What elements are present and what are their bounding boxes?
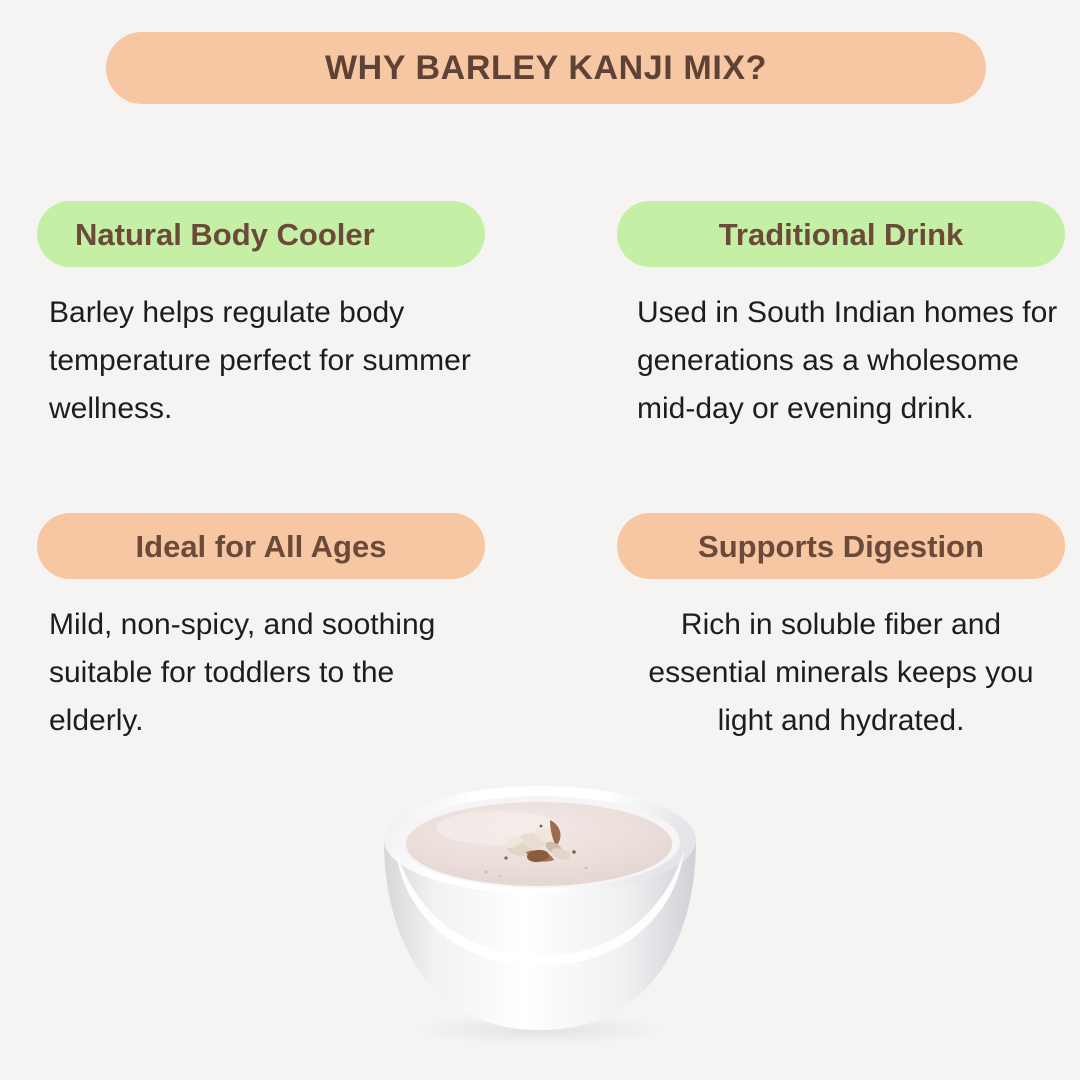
benefit-heading-label: Traditional Drink [719, 219, 964, 250]
benefit-card-supports-digestion: Supports Digestion Rich in soluble fiber… [617, 513, 1065, 745]
page-title: WHY BARLEY KANJI MIX? [325, 51, 767, 85]
benefit-card-traditional-drink: Traditional Drink Used in South Indian h… [617, 201, 1065, 433]
benefit-heading-label: Natural Body Cooler [75, 219, 375, 250]
benefit-card-natural-body-cooler: Natural Body Cooler Barley helps regulat… [37, 201, 485, 433]
benefit-card-ideal-for-all-ages: Ideal for All Ages Mild, non-spicy, and … [37, 513, 485, 745]
benefit-heading-pill-ideal-for-all-ages: Ideal for All Ages [37, 513, 485, 579]
benefit-heading-label: Supports Digestion [698, 531, 984, 562]
benefit-body-traditional-drink: Used in South Indian homes for generatio… [617, 289, 1065, 433]
benefit-heading-pill-traditional-drink: Traditional Drink [617, 201, 1065, 267]
benefit-body-ideal-for-all-ages: Mild, non-spicy, and soothing suitable f… [37, 601, 485, 745]
benefit-heading-label: Ideal for All Ages [136, 531, 387, 562]
infographic-canvas: WHY BARLEY KANJI MIX? Natural Body Coole… [0, 0, 1080, 1080]
benefit-body-supports-digestion: Rich in soluble fiber and essential mine… [617, 601, 1065, 745]
benefit-heading-pill-natural-body-cooler: Natural Body Cooler [37, 201, 485, 267]
bowl-illustration [378, 780, 702, 1048]
benefit-heading-pill-supports-digestion: Supports Digestion [617, 513, 1065, 579]
title-banner: WHY BARLEY KANJI MIX? [106, 32, 986, 104]
product-bowl-image [378, 780, 702, 1048]
benefit-body-natural-body-cooler: Barley helps regulate body temperature p… [37, 289, 485, 433]
